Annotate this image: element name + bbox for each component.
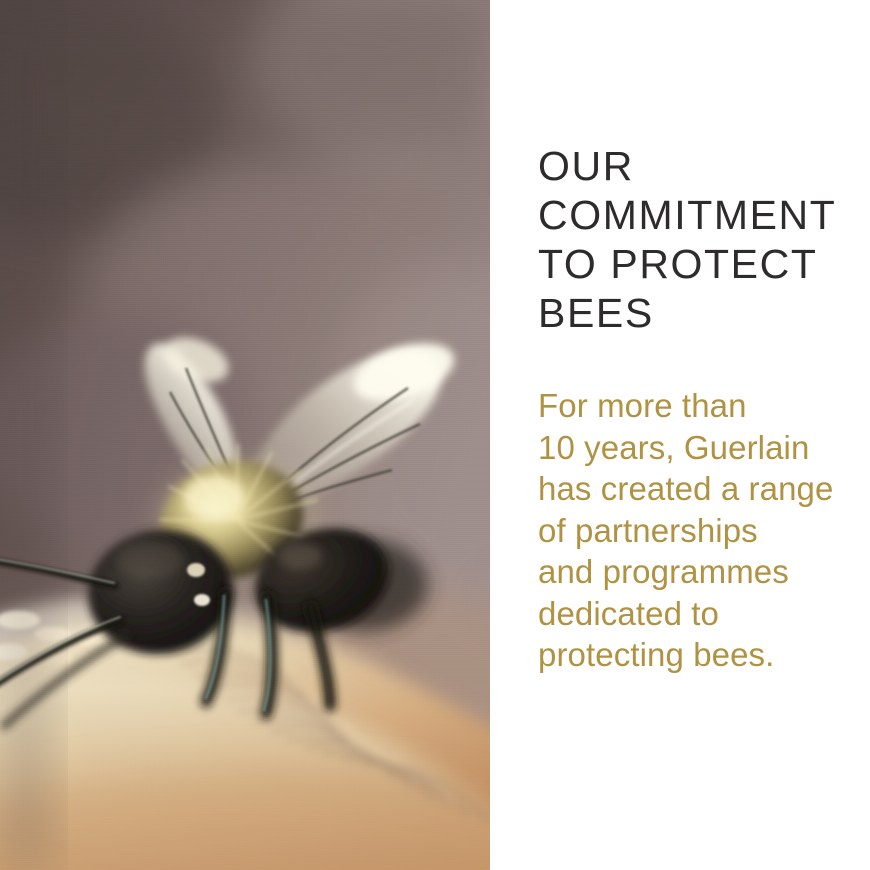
poster-canvas: OUR COMMITMENT TO PROTECT BEES For more … (0, 0, 870, 870)
thorax-specular (184, 476, 244, 520)
bee-photograph-panel (0, 0, 490, 870)
bee-photograph (0, 0, 490, 870)
bee-eye-glint-lower (194, 594, 210, 606)
page-title: OUR COMMITMENT TO PROTECT BEES (538, 142, 868, 338)
top-vignette (0, 0, 490, 156)
body-paragraph: For more than 10 years, Guerlain has cre… (538, 385, 870, 676)
bee-eye-glint-upper (187, 563, 205, 577)
text-panel: OUR COMMITMENT TO PROTECT BEES For more … (490, 0, 870, 870)
bee-photograph-artwork (0, 0, 490, 870)
left-vignette (0, 0, 52, 870)
